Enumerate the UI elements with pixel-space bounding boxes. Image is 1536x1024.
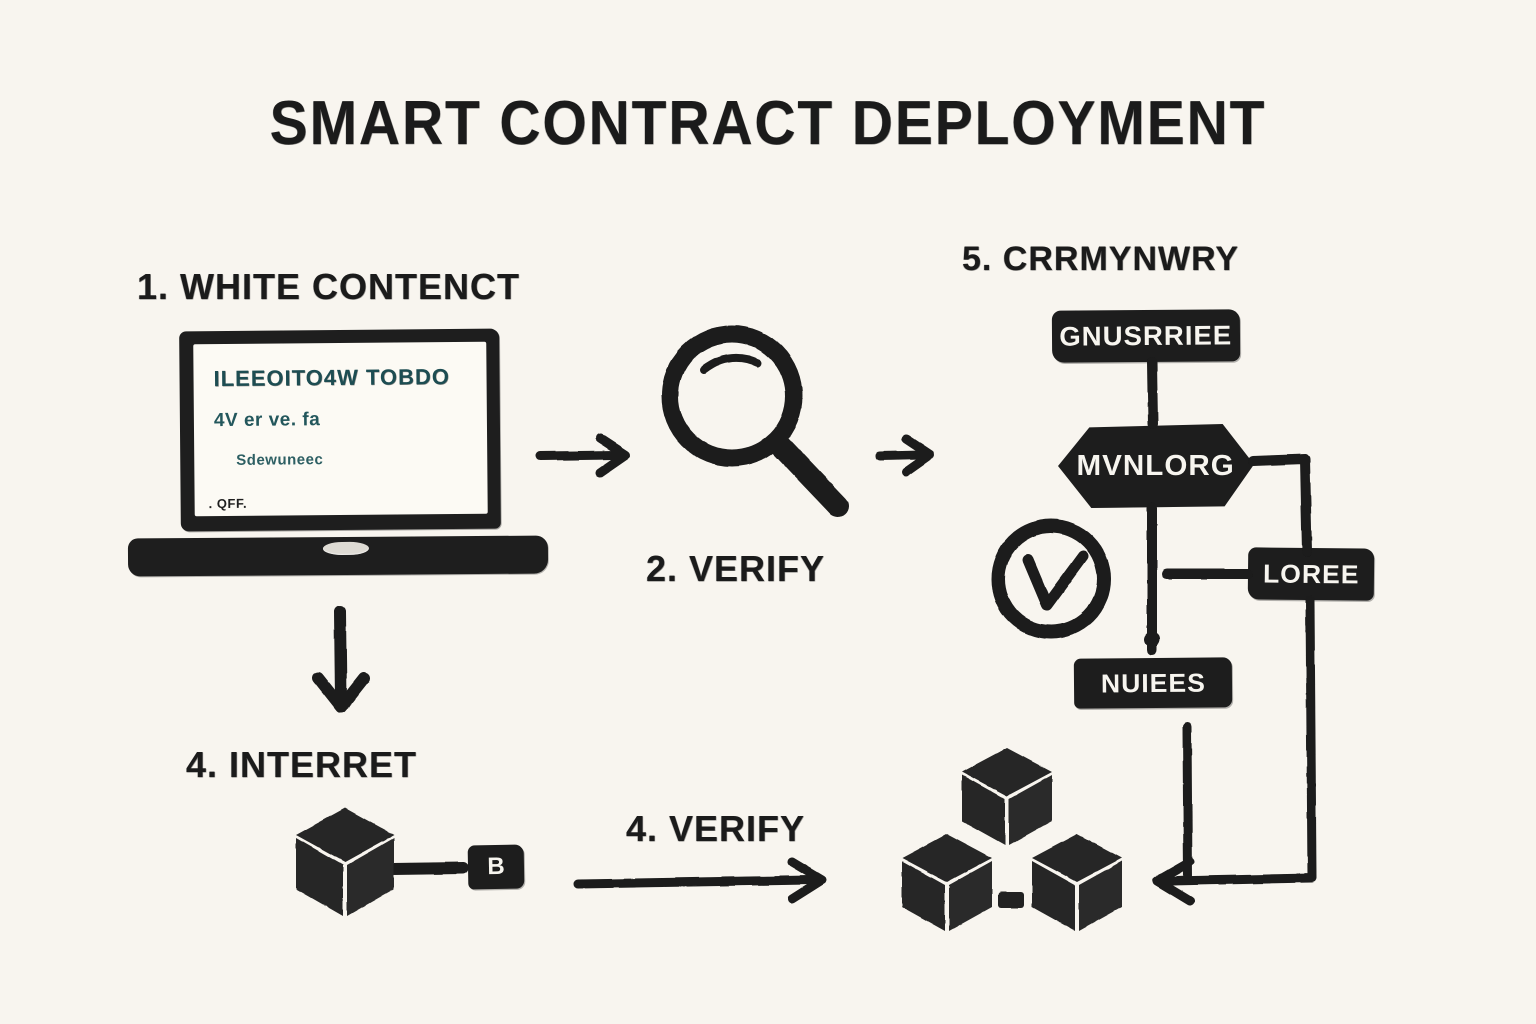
flow-connector-decision-to-nules [1144,508,1160,650]
arrow-right-icon-magnifier-to-flow [880,439,930,472]
cube-icon-bottom-left [902,834,992,931]
cube-cluster-blockchain [902,748,1122,931]
arrow-right-icon-laptop-to-magnifier [540,438,626,473]
cube-icon-top [962,748,1052,845]
arrow-down-icon-laptop-to-internet [318,612,364,707]
arrow-right-icon-internet-to-blockchain [578,862,822,899]
cube-icon-internet [296,808,394,916]
connector-cube-to-chip [392,868,463,869]
cube-connector [998,892,1024,908]
diagram-canvas: SMART CONTRACT DEPLOYMENT 1. WHITE CONTE… [0,0,1536,1024]
vector-layer [0,0,1536,1024]
flow-connector-queries-to-decision [1152,362,1153,424]
flow-return-path-to-blockchain [1157,600,1312,901]
magnifying-glass-icon [670,334,838,506]
cube-icon-bottom-right [1032,834,1122,931]
flow-connector-decision-to-loree [1253,459,1307,552]
check-circle-icon [998,526,1104,632]
